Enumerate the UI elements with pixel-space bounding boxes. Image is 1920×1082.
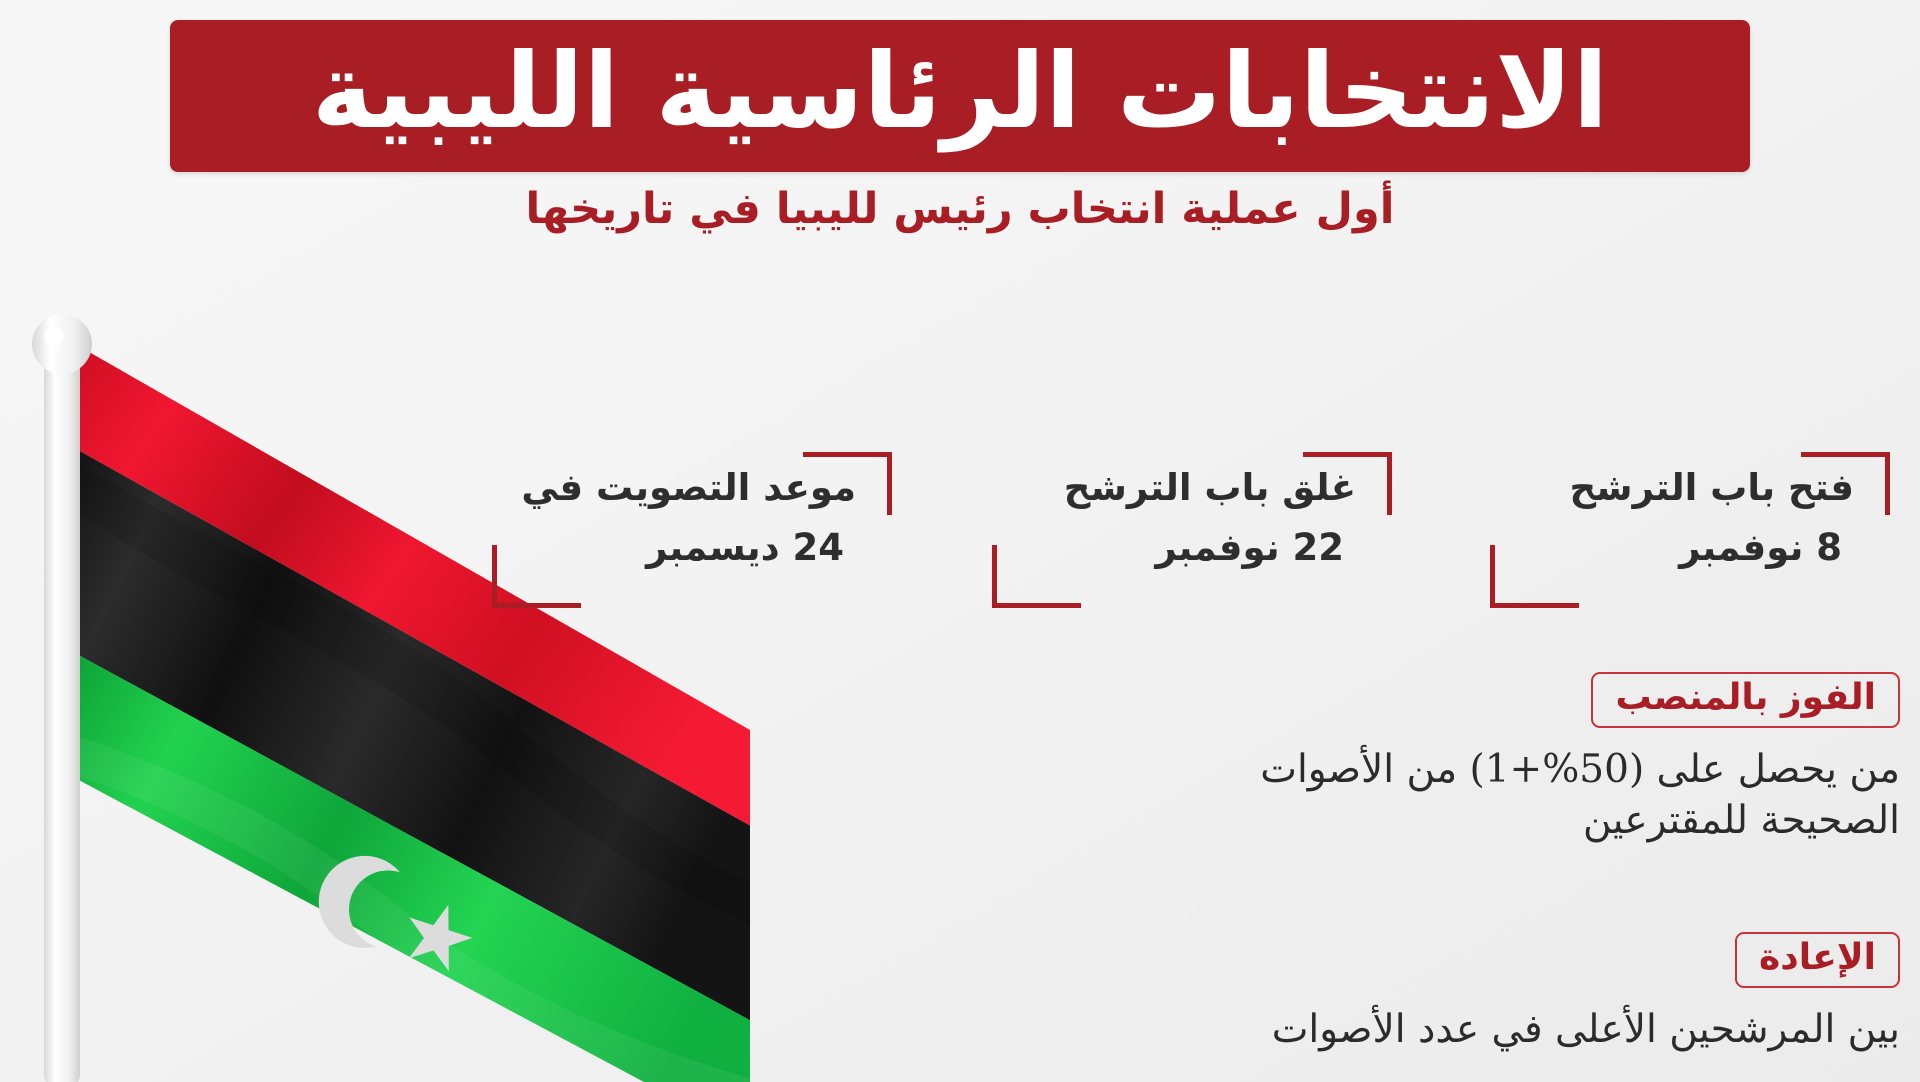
rule-body-line: بين المرشحين الأعلى في عدد الأصوات (1000, 1004, 1900, 1055)
rule-block-win-office: الفوز بالمنصب من يحصل على (50%+1) من الأ… (1000, 672, 1900, 847)
page-subtitle: أول عملية انتخاب رئيس لليبيا في تاريخها (0, 184, 1920, 234)
libya-flag-svg (0, 300, 770, 1082)
timeline-card-date: 22 نوفمبر (1014, 526, 1344, 569)
timeline-card-date: 8 نوفمبر (1512, 526, 1842, 569)
rule-heading-runoff: الإعادة (1735, 932, 1900, 988)
timeline-card-date: 24 ديسمبر (514, 526, 844, 569)
rule-heading-win-office: الفوز بالمنصب (1591, 672, 1900, 728)
timeline-card-candidacy-close: غلق باب الترشح 22 نوفمبر (992, 452, 1392, 602)
rule-body-win-office: من يحصل على (50%+1) من الأصوات الصحيحة ل… (1000, 744, 1900, 847)
rule-body-runoff: بين المرشحين الأعلى في عدد الأصوات (1000, 1004, 1900, 1055)
rule-body-line: من يحصل على (50%+1) من الأصوات (1000, 744, 1900, 795)
timeline-card-candidacy-open: فتح باب الترشح 8 نوفمبر (1490, 452, 1890, 602)
timeline-card-label: موعد التصويت في (506, 466, 856, 509)
rule-block-runoff: الإعادة بين المرشحين الأعلى في عدد الأصو… (1000, 932, 1900, 1055)
timeline-card-label: فتح باب الترشح (1504, 466, 1854, 509)
title-banner: الانتخابات الرئاسية الليبية (170, 20, 1750, 172)
page-title: الانتخابات الرئاسية الليبية (312, 39, 1609, 153)
timeline-section: فتح باب الترشح 8 نوفمبر غلق باب الترشح 2… (0, 452, 1920, 632)
rule-body-line: الصحيحة للمقترعين (1000, 795, 1900, 846)
timeline-card-voting-date: موعد التصويت في 24 ديسمبر (492, 452, 892, 602)
timeline-card-label: غلق باب الترشح (1006, 466, 1356, 509)
infographic-poster: الانتخابات الرئاسية الليبية أول عملية ان… (0, 0, 1920, 1082)
flag-bands (60, 330, 770, 1082)
libya-flag-image (0, 300, 770, 1082)
